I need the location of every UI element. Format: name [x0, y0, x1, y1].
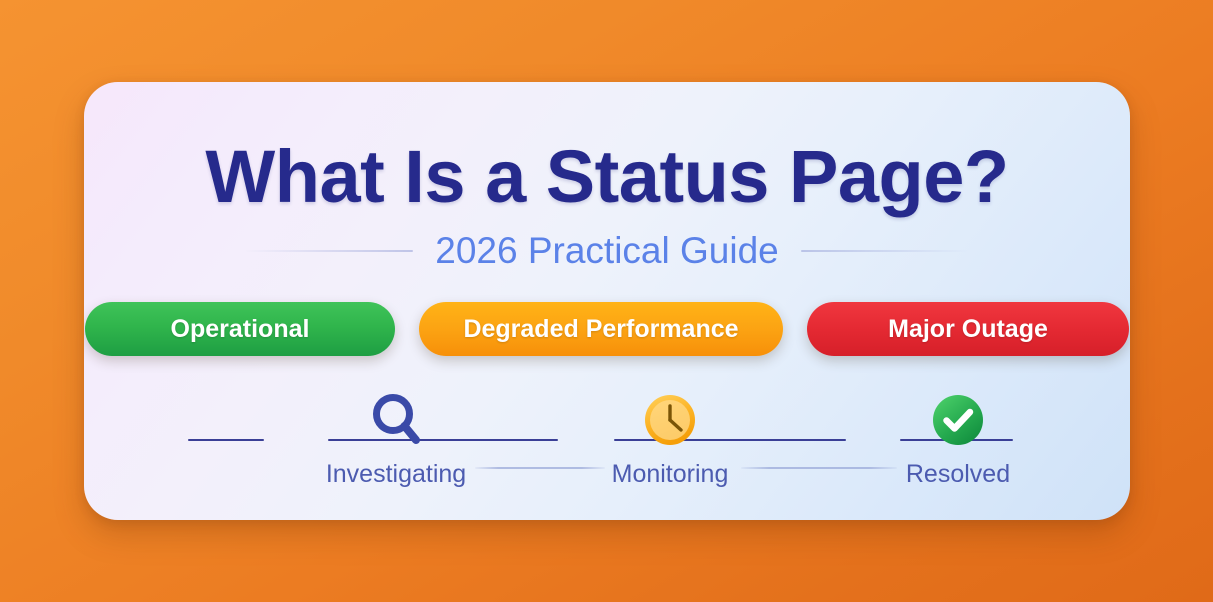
page-title: What Is a Status Page? [84, 134, 1130, 219]
check-circle-icon [868, 388, 1048, 452]
subtitle-rule-right [801, 250, 969, 252]
subtitle-row: 2026 Practical Guide [84, 230, 1130, 272]
timeline-step-investigating[interactable]: Investigating [306, 388, 486, 489]
status-pill-outage-label: Major Outage [888, 315, 1048, 344]
timeline-step-monitoring-label: Monitoring [580, 460, 760, 489]
status-pill-degraded-label: Degraded Performance [463, 315, 738, 344]
timeline-step-investigating-label: Investigating [306, 460, 486, 489]
status-pill-outage[interactable]: Major Outage [807, 302, 1129, 356]
subtitle-rule-left [245, 250, 413, 252]
status-pill-degraded[interactable]: Degraded Performance [419, 302, 783, 356]
status-pill-group: Operational Degraded Performance Major O… [84, 302, 1130, 356]
timeline-step-monitoring[interactable]: Monitoring [580, 388, 760, 489]
magnifying-glass-icon [306, 388, 486, 452]
timeline-step-resolved[interactable]: Resolved [868, 388, 1048, 489]
status-pill-operational-label: Operational [171, 315, 310, 344]
timeline-rail-start [188, 439, 264, 441]
incident-timeline: Investigating [84, 388, 1130, 498]
status-pill-operational[interactable]: Operational [85, 302, 395, 356]
page-subtitle: 2026 Practical Guide [435, 230, 778, 272]
timeline-step-resolved-label: Resolved [868, 460, 1048, 489]
clock-icon [580, 388, 760, 452]
status-card: What Is a Status Page? 2026 Practical Gu… [84, 82, 1130, 520]
